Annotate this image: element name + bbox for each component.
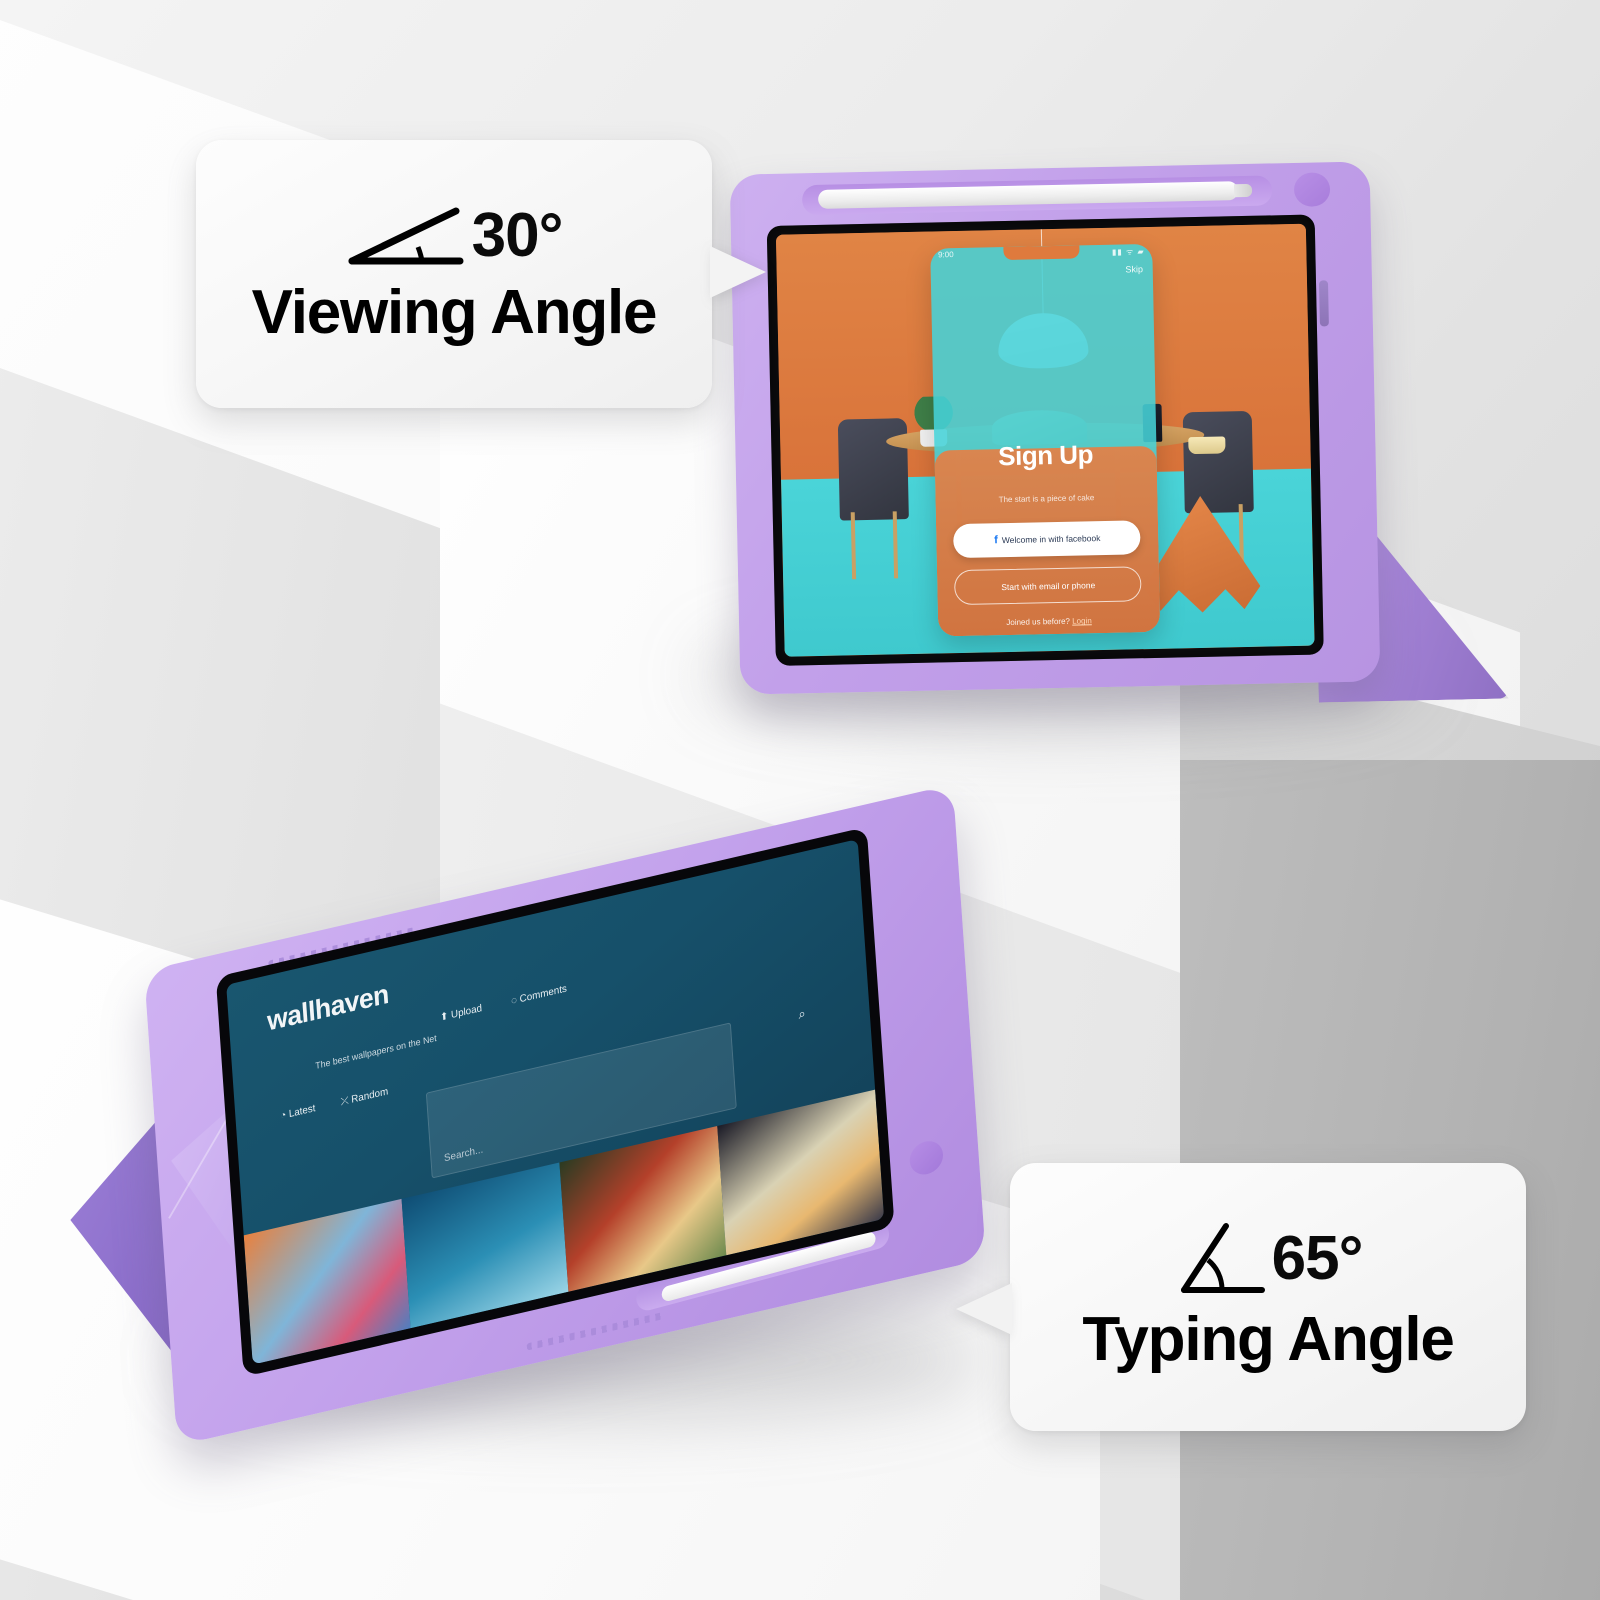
chair-left (838, 418, 909, 521)
tablet-screen-viewing[interactable]: 9:00 ▮▮ ᯤ ▰ Skip Sign Up The start is a … (776, 224, 1315, 657)
wallhaven-nav-secondary: ⬆ Upload ◌ Comments (440, 983, 567, 1023)
status-bar-time: 9:00 (938, 250, 954, 259)
email-signup-label: Start with email or phone (1001, 580, 1095, 592)
status-bar-icons: ▮▮ ᯤ ▰ (1112, 246, 1145, 258)
nav-label-comments: Comments (519, 983, 567, 1005)
typing-angle-row: 65° (1174, 1220, 1363, 1298)
tablet-bezel-viewing: 9:00 ▮▮ ᯤ ▰ Skip Sign Up The start is a … (767, 215, 1324, 666)
nav-item-random[interactable]: ⤫ Random (340, 1086, 388, 1108)
thumbnail-fantasy[interactable] (559, 1126, 726, 1292)
skip-link[interactable]: Skip (1125, 264, 1143, 274)
upload-icon: ⬆ (440, 1011, 449, 1024)
chair-right (1183, 411, 1254, 514)
phone-notch (1003, 245, 1079, 263)
power-button[interactable] (1319, 280, 1329, 326)
email-signup-button[interactable]: Start with email or phone (954, 566, 1142, 605)
comment-icon: ◌ (511, 995, 518, 1007)
shallow-angle-icon (346, 203, 466, 269)
callout-viewing-angle: 30° Viewing Angle (196, 140, 712, 408)
search-placeholder: Search... (444, 1144, 484, 1164)
facebook-icon: f (994, 534, 998, 546)
login-link[interactable]: Login (1072, 617, 1092, 626)
thumbnail-underwater[interactable] (402, 1163, 569, 1329)
callout-pointer-viewing (710, 246, 766, 298)
nav-label-random: Random (351, 1086, 389, 1106)
nav-label-latest: Latest (289, 1103, 316, 1120)
typing-angle-title: Typing Angle (1082, 1304, 1453, 1375)
viewing-angle-degrees: 30° (472, 200, 563, 271)
thumbnail-low-poly[interactable] (244, 1199, 411, 1365)
viewing-angle-title: Viewing Angle (252, 277, 657, 348)
nav-item-latest[interactable]: ◔ Latest (280, 1103, 316, 1122)
nav-item-upload[interactable]: ⬆ Upload (440, 1003, 483, 1024)
facebook-signup-label: Welcome in with facebook (1002, 533, 1101, 545)
thumbnail-planet[interactable] (717, 1090, 884, 1256)
wallhaven-nav-primary: ◔ Latest ⤫ Random (280, 1086, 389, 1122)
search-icon[interactable]: ⌕ (798, 1006, 806, 1024)
shuffle-icon: ⤫ (340, 1096, 349, 1109)
viewing-angle-row: 30° (346, 200, 563, 271)
steep-angle-icon (1174, 1220, 1266, 1298)
signup-phone-mockup: 9:00 ▮▮ ᯤ ▰ Skip Sign Up The start is a … (930, 244, 1161, 637)
product-showcase-scene: 9:00 ▮▮ ᯤ ▰ Skip Sign Up The start is a … (0, 0, 1600, 1600)
clock-icon: ◔ (280, 1110, 287, 1122)
tablet-viewing-angle: 9:00 ▮▮ ᯤ ▰ Skip Sign Up The start is a … (730, 161, 1381, 694)
wallhaven-logo[interactable]: wallhaven (266, 978, 390, 1037)
login-prompt-text: Joined us before? (1006, 617, 1070, 627)
callout-pointer-typing (956, 1283, 1012, 1335)
wallhaven-tagline: The best wallpapers on the Net (315, 1033, 437, 1071)
callout-typing-angle: 65° Typing Angle (1010, 1163, 1526, 1431)
nav-label-upload: Upload (451, 1003, 483, 1021)
nav-item-comments[interactable]: ◌ Comments (511, 983, 567, 1007)
typing-angle-degrees: 65° (1272, 1223, 1363, 1294)
signup-title: Sign Up (934, 438, 1157, 474)
facebook-signup-button[interactable]: f Welcome in with facebook (953, 520, 1141, 559)
coffee-cup (1188, 436, 1225, 454)
